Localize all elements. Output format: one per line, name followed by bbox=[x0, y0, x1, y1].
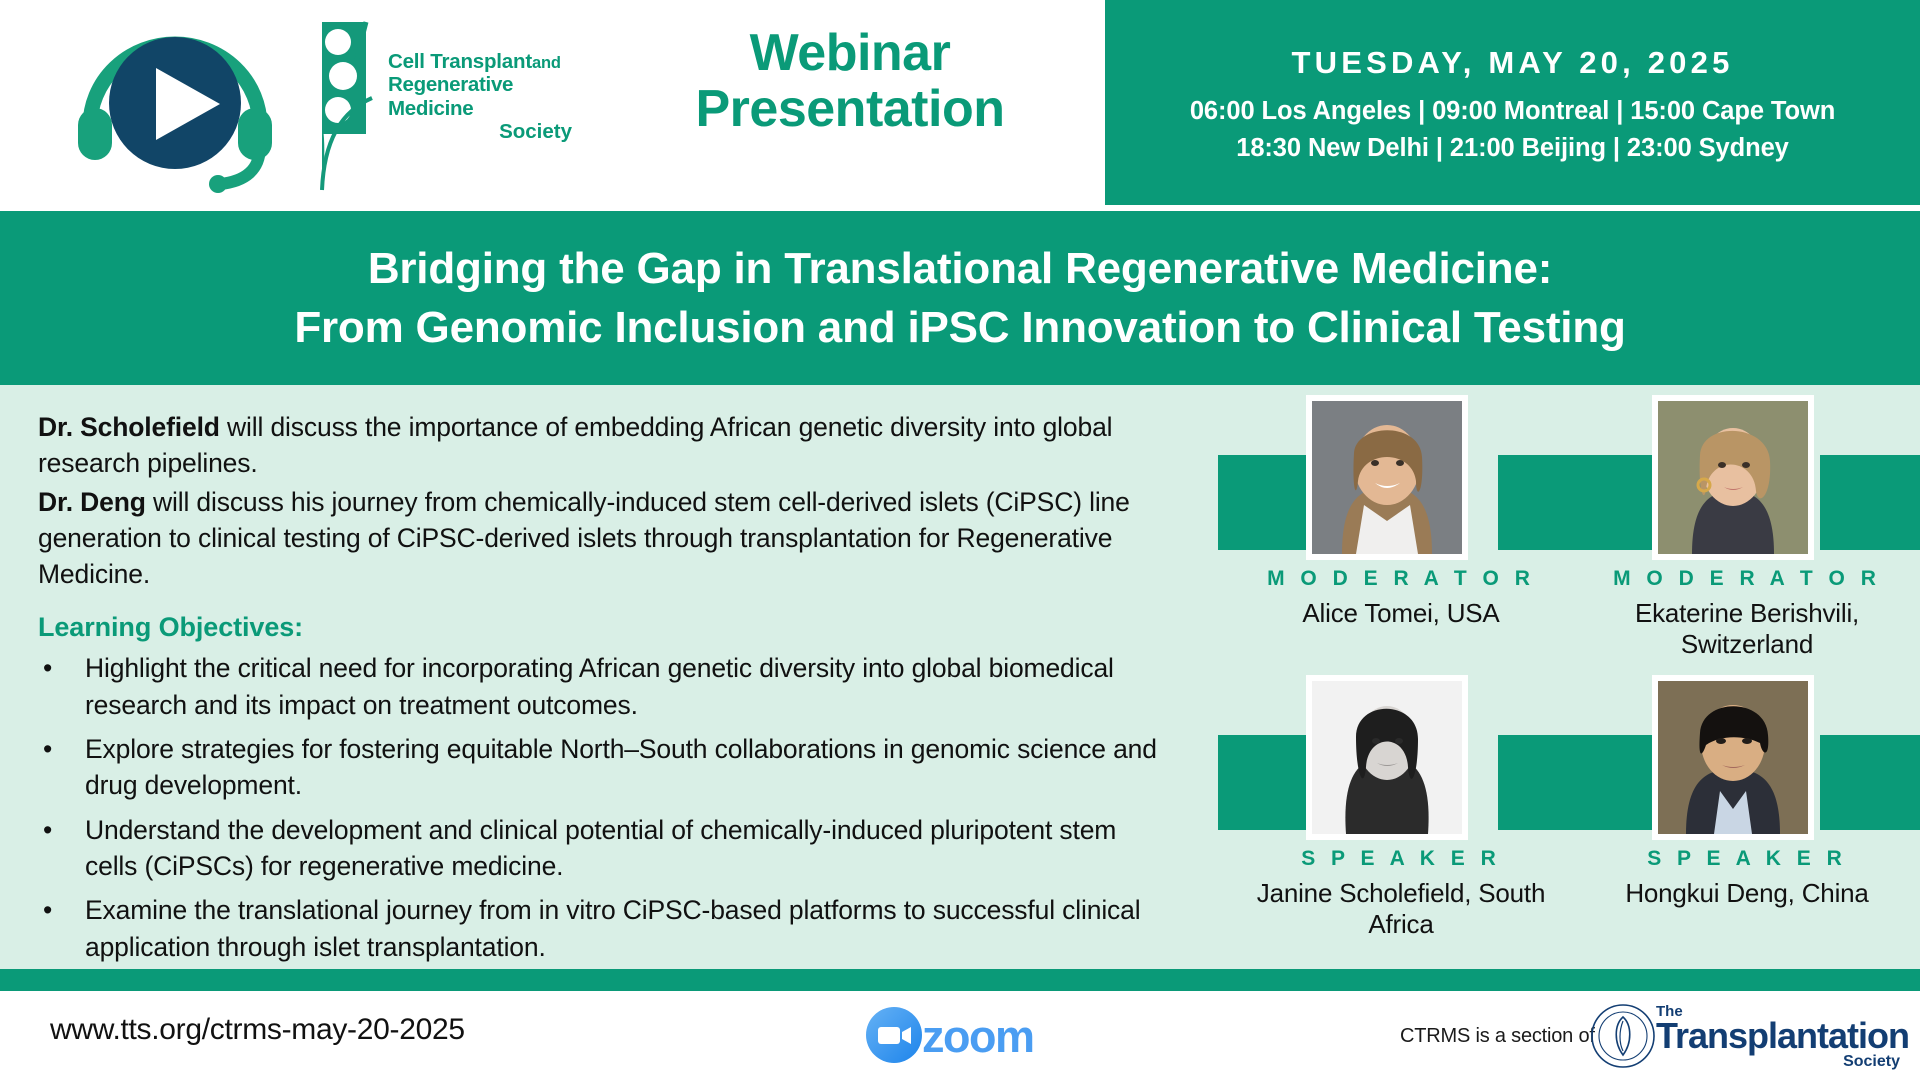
registration-url[interactable]: www.tts.org/ctrms-may-20-2025 bbox=[50, 1013, 465, 1047]
ctrms-line1-main: Cell Transplant bbox=[388, 50, 532, 73]
webinar-play-headset-icon bbox=[60, 8, 290, 193]
bullet-icon: • bbox=[43, 812, 52, 848]
list-item: • Highlight the critical need for incorp… bbox=[38, 650, 1158, 723]
person-role: M O D E R A T O R bbox=[1228, 567, 1574, 591]
zoom-camera-icon bbox=[866, 1007, 922, 1063]
tss-main: Transplantation bbox=[1656, 1019, 1900, 1053]
header: Cell Transplantand Regenerative Medicine… bbox=[0, 0, 1920, 205]
avatar-frame bbox=[1652, 675, 1814, 840]
ctrms-line3: Society bbox=[388, 120, 588, 143]
transplantation-society-block: CTRMS is a section of The Transplantatio… bbox=[1400, 1003, 1900, 1069]
description-paragraph-2: Dr. Deng will discuss his journey from c… bbox=[38, 484, 1158, 593]
ctrms-section-note: CTRMS is a section of bbox=[1400, 1025, 1595, 1048]
ctrms-leaf-cells-icon bbox=[310, 14, 390, 194]
speakers-panel: M O D E R A T O R Alice Tomei, USA bbox=[1228, 343, 1920, 963]
person-card: M O D E R A T O R Ekaterine Berishvili, … bbox=[1574, 395, 1920, 675]
avatar bbox=[1312, 681, 1462, 834]
person-name: Hongkui Deng, China bbox=[1574, 878, 1920, 909]
avatar-frame bbox=[1306, 675, 1468, 840]
person-name: Alice Tomei, USA bbox=[1228, 598, 1574, 629]
zoom-wordmark: zoom bbox=[922, 1011, 1034, 1063]
transplantation-society-wordmark: The Transplantation Society bbox=[1656, 1004, 1900, 1071]
timezones-line-2: 18:30 New Delhi | 21:00 Beijing | 23:00 … bbox=[1190, 130, 1835, 166]
webinar-title-line2: Presentation bbox=[640, 82, 1060, 138]
bullet-icon: • bbox=[43, 650, 52, 686]
person-card: S P E A K E R Hongkui Deng, China bbox=[1574, 675, 1920, 955]
avatar bbox=[1658, 401, 1808, 554]
list-item-text: Understand the development and clinical … bbox=[85, 815, 1116, 881]
person-card: M O D E R A T O R Alice Tomei, USA bbox=[1228, 395, 1574, 675]
avatar bbox=[1658, 681, 1808, 834]
footer-divider-bar bbox=[0, 969, 1920, 991]
header-logo-area: Cell Transplantand Regenerative Medicine… bbox=[0, 0, 1105, 205]
person-name: Ekaterine Berishvili, Switzerland bbox=[1574, 598, 1920, 660]
ctrms-society-logo: Cell Transplantand Regenerative Medicine… bbox=[310, 14, 590, 194]
bullet-icon: • bbox=[43, 731, 52, 767]
speaker-name-bold-deng: Dr. Deng bbox=[38, 487, 146, 517]
presentation-title-line-1: Bridging the Gap in Translational Regene… bbox=[368, 239, 1552, 298]
description-paragraph-2-rest: will discuss his journey from chemically… bbox=[38, 487, 1130, 590]
transplantation-society-seal-icon bbox=[1590, 1003, 1656, 1069]
webinar-title-line1: Webinar bbox=[640, 26, 1060, 82]
speakers-row-speakers: S P E A K E R Janine Scholefield, South … bbox=[1228, 675, 1920, 955]
main-content: Dr. Scholefield will discuss the importa… bbox=[0, 385, 1920, 969]
date-time-block: TUESDAY, MAY 20, 2025 06:00 Los Angeles … bbox=[1105, 0, 1920, 205]
learning-objectives-list: • Highlight the critical need for incorp… bbox=[38, 650, 1158, 964]
list-item: • Examine the translational journey from… bbox=[38, 892, 1158, 965]
avatar-frame bbox=[1306, 395, 1468, 560]
avatar bbox=[1312, 401, 1462, 554]
speakers-row-moderators: M O D E R A T O R Alice Tomei, USA bbox=[1228, 395, 1920, 675]
webinar-presentation-title: Webinar Presentation bbox=[640, 26, 1060, 137]
person-role: S P E A K E R bbox=[1574, 847, 1920, 871]
person-role: M O D E R A T O R bbox=[1574, 567, 1920, 591]
speaker-name-bold-scholefield: Dr. Scholefield bbox=[38, 412, 220, 442]
description-column: Dr. Scholefield will discuss the importa… bbox=[38, 409, 1158, 973]
footer: www.tts.org/ctrms-may-20-2025 zoom CTRMS… bbox=[0, 991, 1920, 1080]
list-item-text: Highlight the critical need for incorpor… bbox=[85, 653, 1114, 719]
list-item: • Explore strategies for fostering equit… bbox=[38, 731, 1158, 804]
person-role: S P E A K E R bbox=[1228, 847, 1574, 871]
learning-objectives-heading: Learning Objectives: bbox=[38, 612, 1158, 643]
description-paragraph-1: Dr. Scholefield will discuss the importa… bbox=[38, 409, 1158, 482]
event-date: TUESDAY, MAY 20, 2025 bbox=[1291, 45, 1733, 81]
bullet-icon: • bbox=[43, 892, 52, 928]
list-item: • Understand the development and clinica… bbox=[38, 812, 1158, 885]
avatar-frame bbox=[1652, 395, 1814, 560]
person-name: Janine Scholefield, South Africa bbox=[1228, 878, 1574, 940]
zoom-logo: zoom bbox=[866, 1007, 1056, 1063]
ctrms-line1-small: and bbox=[532, 54, 561, 72]
ctrms-line2: Regenerative Medicine bbox=[388, 73, 588, 120]
list-item-text: Explore strategies for fostering equitab… bbox=[85, 734, 1157, 800]
timezones-line-1: 06:00 Los Angeles | 09:00 Montreal | 15:… bbox=[1190, 93, 1835, 129]
list-item-text: Examine the translational journey from i… bbox=[85, 895, 1140, 961]
person-card: S P E A K E R Janine Scholefield, South … bbox=[1228, 675, 1574, 955]
